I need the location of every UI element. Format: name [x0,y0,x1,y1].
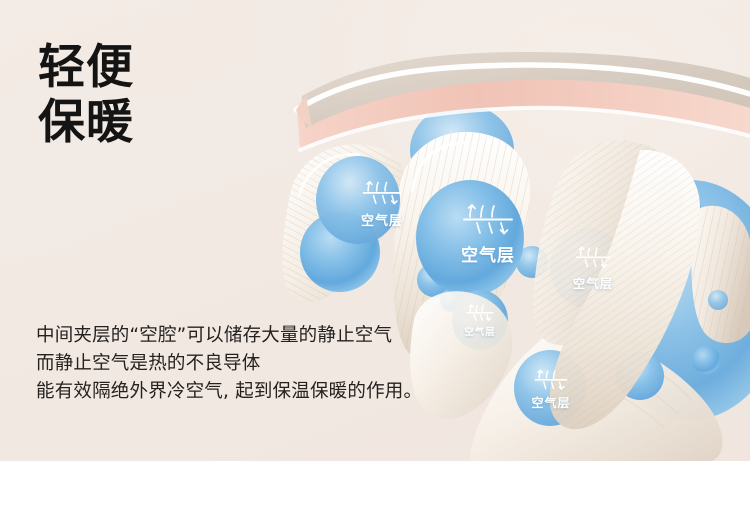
air-layer-label: 空气层 [531,394,570,411]
product-feature-banner: 空气层 空气层 [0,0,750,510]
airflow-insulation-icon [575,245,611,269]
air-layer-bubble-large: 空气层 [436,176,540,292]
air-layer-label: 空气层 [573,273,614,292]
air-layer-label: 空气层 [461,241,515,266]
page-title: 轻便 保暖 [38,40,134,150]
air-layer-bubble-upper-left: 空气层 [342,160,422,248]
description-paragraph: 中间夹层的“空腔”可以储存大量的静止空气 而静止空气是热的不良导体 能有效隔绝外… [36,322,422,406]
air-layer-label: 空气层 [361,210,403,229]
airflow-insulation-icon [462,202,514,236]
wavy-fabric-sheet [296,52,750,150]
air-layer-bubble-lower-right: 空气层 [516,352,586,426]
airflow-insulation-icon [534,368,568,391]
air-layer-label: 空气层 [464,324,496,338]
background-white-band [0,461,750,510]
airflow-insulation-icon [466,303,494,322]
air-layer-bubble-small: 空气层 [452,290,508,350]
airflow-insulation-icon [362,179,402,206]
air-layer-bubble-right: 空气层 [556,228,630,308]
